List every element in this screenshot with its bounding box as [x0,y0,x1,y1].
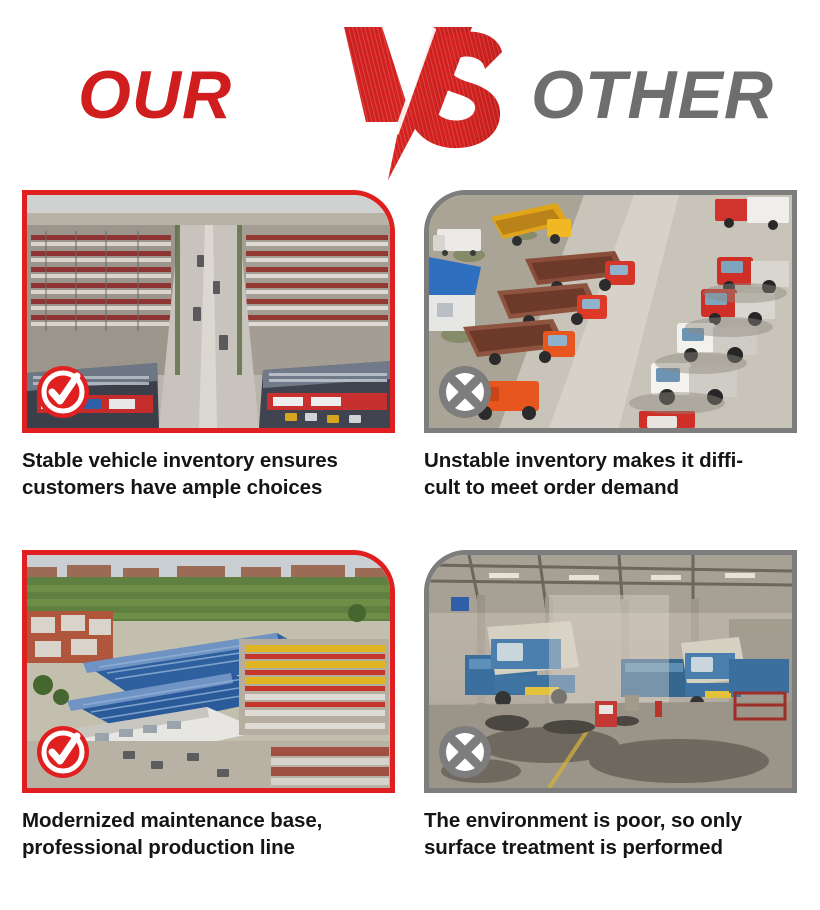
caption-line-1: Stable vehicle inventory ensures [22,447,397,474]
caption-other-inventory: Unstable inventory makes it diffi- cult … [424,447,799,502]
check-badge-icon [35,724,91,780]
photo-frame-other-inventory [424,190,797,433]
other-title: OTHER [531,61,774,129]
caption-line-2: professional production line [22,834,397,861]
caption-line-2: cult to meet order demand [424,474,799,501]
caption-line-2: surface treatment is performed [424,834,799,861]
card-our-maintenance: Modernized maintenance base, professiona… [22,550,407,862]
card-other-inventory: Unstable inventory makes it diffi- cult … [424,190,809,502]
caption-line-1: Modernized maintenance base, [22,807,397,834]
caption-our-inventory: Stable vehicle inventory ensures custome… [22,447,397,502]
cross-badge-icon [437,364,493,420]
caption-other-workshop: The environment is poor, so only surface… [424,807,799,862]
comparison-header: OUR OTHER [0,0,820,180]
card-other-workshop: The environment is poor, so only surface… [424,550,809,862]
check-badge-icon [35,364,91,420]
vs-logo-icon [330,22,515,180]
card-our-inventory: Stable vehicle inventory ensures custome… [22,190,407,502]
photo-frame-other-workshop [424,550,797,793]
photo-frame-our-maintenance [22,550,395,793]
comparison-grid: Stable vehicle inventory ensures custome… [0,190,820,910]
comparison-row-2: Modernized maintenance base, professiona… [0,550,820,910]
caption-our-maintenance: Modernized maintenance base, professiona… [22,807,397,862]
caption-line-2: customers have ample choices [22,474,397,501]
our-title: OUR [78,61,232,129]
comparison-row-1: Stable vehicle inventory ensures custome… [0,190,820,550]
photo-frame-our-inventory [22,190,395,433]
caption-line-1: The environment is poor, so only [424,807,799,834]
cross-badge-icon [437,724,493,780]
caption-line-1: Unstable inventory makes it diffi- [424,447,799,474]
